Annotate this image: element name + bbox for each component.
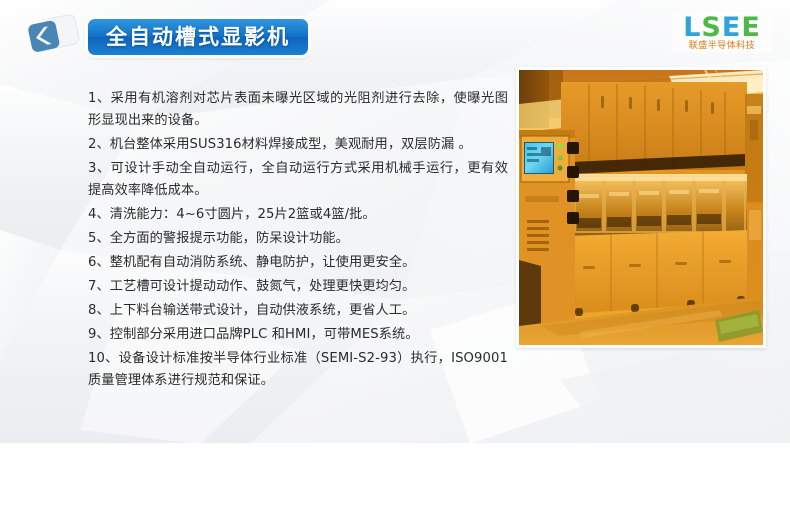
- company-logo: LSEE 联盛半导体科技: [672, 12, 772, 53]
- feature-item: 4、清洗能力：4~6寸圆片，25片2篮或4篮/批。: [88, 204, 508, 226]
- logo-letter-2: S: [701, 14, 721, 41]
- logo-letter-4: E: [741, 14, 760, 41]
- product-photo: [519, 70, 763, 345]
- product-photo-frame: [516, 67, 766, 348]
- slide-header: 全自动槽式显影机 LSEE 联盛半导体科技: [0, 0, 790, 68]
- feature-item: 1、采用有机溶剂对芯片表面未曝光区域的光阻剂进行去除，使曝光图形显现出来的设备。: [88, 88, 508, 132]
- feature-item: 2、机台整体采用SUS316材料焊接成型，美观耐用，双层防漏 。: [88, 134, 508, 156]
- slide-root: 全自动槽式显影机 LSEE 联盛半导体科技 1、采用有机溶剂对芯片表面未曝光区域…: [0, 0, 790, 508]
- logo-subtitle: 联盛半导体科技: [674, 42, 770, 52]
- feature-item: 5、全方面的警报提示功能，防呆设计功能。: [88, 228, 508, 250]
- bottom-white-band: [0, 443, 790, 508]
- feature-list: 1、采用有机溶剂对芯片表面未曝光区域的光阻剂进行去除，使曝光图形显现出来的设备。…: [88, 88, 508, 394]
- feature-item: 10、设备设计标准按半导体行业标准（SEMI-S2-93）执行，ISO9001质…: [88, 348, 508, 392]
- feature-item: 8、上下料台输送带式设计，自动供液系统，更省人工。: [88, 300, 508, 322]
- feature-item: 6、整机配有自动消防系统、静电防护，让使用更安全。: [88, 252, 508, 274]
- feature-item: 7、工艺槽可设计提动动作、鼓氮气，处理更快更均匀。: [88, 276, 508, 298]
- logo-letter-1: L: [683, 14, 701, 41]
- chevron-diamond-icon: [24, 14, 86, 58]
- feature-item: 3、可设计手动全自动运行，全自动运行方式采用机械手运行，更有效提高效率降低成本。: [88, 158, 508, 202]
- slide-title-banner: 全自动槽式显影机: [88, 19, 308, 55]
- page-title: 全自动槽式显影机: [106, 27, 290, 48]
- logo-letter-3: E: [722, 14, 741, 41]
- product-photo-illustration: [519, 70, 763, 345]
- feature-item: 9、控制部分采用进口品牌PLC 和HMI，可带MES系统。: [88, 324, 508, 346]
- logo-wordmark: LSEE: [674, 14, 770, 41]
